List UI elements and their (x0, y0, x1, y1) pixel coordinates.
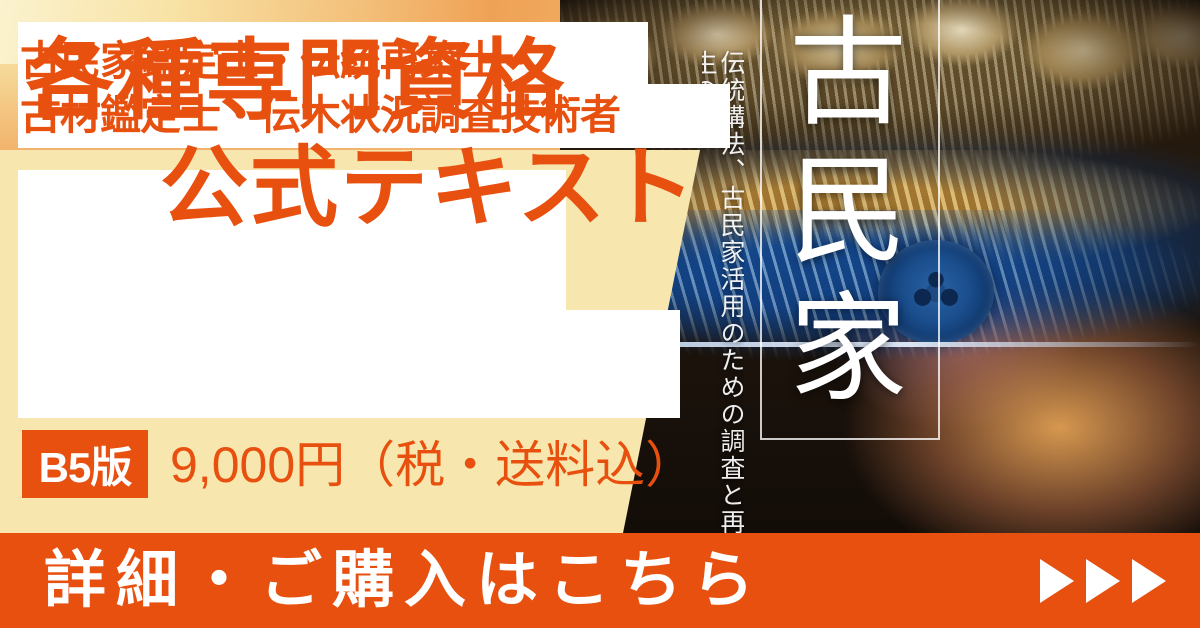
headline-line-2: 公式テキスト (160, 144, 697, 232)
cta-arrows (1040, 559, 1166, 603)
cover-title: 古 民 家 (762, 6, 934, 436)
play-arrow-icon (1132, 559, 1166, 603)
price-text: 9,000円（税・送料込） (170, 440, 695, 490)
cta-label: 詳細・ご購入はこちら (44, 550, 764, 612)
promo-banner: 伝統構法、古民家活用のための調査と再生の 古 民 家 古民家鑑定士・伝統再築士・… (0, 0, 1200, 628)
play-arrow-icon (1040, 559, 1074, 603)
headline-line-1: 各種専門資格 (26, 37, 566, 125)
cover-title-char-1: 古 (789, 6, 907, 144)
play-arrow-icon (1086, 559, 1120, 603)
cover-title-char-2: 民 (789, 144, 907, 282)
cover-title-char-3: 家 (789, 282, 907, 420)
format-badge: B5版 (22, 430, 148, 498)
cta-bar[interactable]: 詳細・ご購入はこちら (0, 533, 1200, 628)
